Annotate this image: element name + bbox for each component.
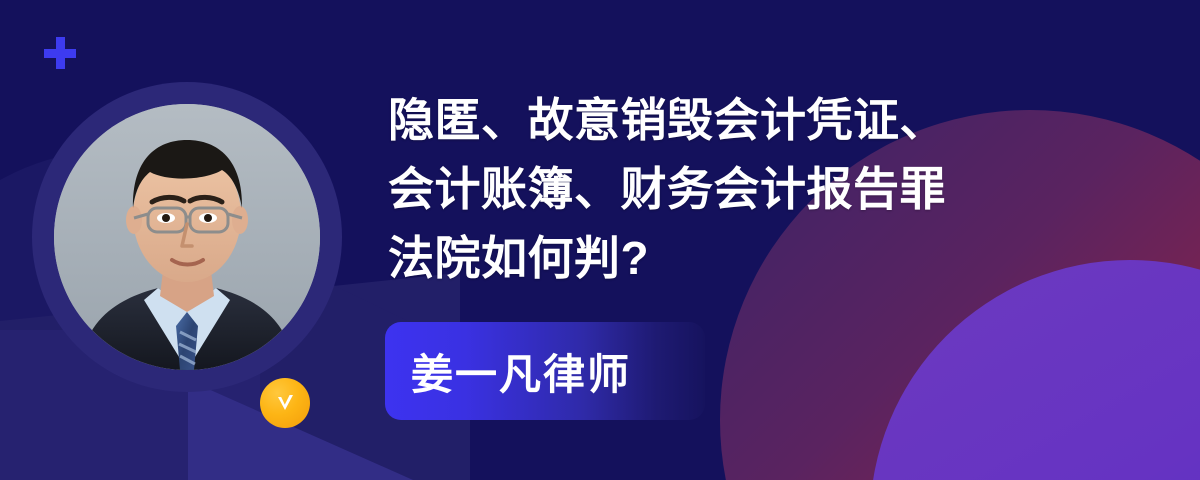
avatar <box>32 82 342 392</box>
content-column: 隐匿、故意销毁会计凭证、 会计账簿、财务会计报告罪 法院如何判? <box>388 86 1028 293</box>
verified-lawyer-badge <box>260 378 310 428</box>
lawyer-name-button[interactable]: 姜一凡律师 <box>385 322 705 420</box>
plus-icon <box>44 37 76 69</box>
avatar-photo <box>54 104 320 370</box>
page-title: 隐匿、故意销毁会计凭证、 会计账簿、财务会计报告罪 法院如何判? <box>388 86 1028 293</box>
lawyer-qa-banner: 隐匿、故意销毁会计凭证、 会计账簿、财务会计报告罪 法院如何判? 姜一凡律师 <box>0 0 1200 480</box>
